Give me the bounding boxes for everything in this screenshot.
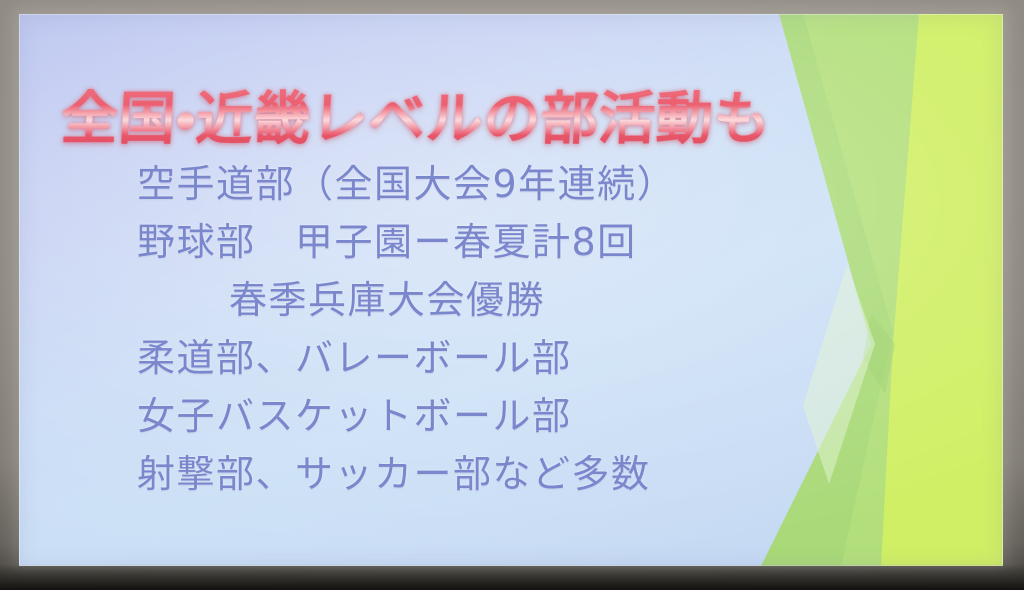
green-polygons-svg (743, 14, 1003, 566)
wall-bottom-shadow (0, 564, 1024, 590)
page-title: 全国・近畿レベルの部活動も (59, 88, 772, 152)
list-item: 空手道部（全国大会9年連続） (137, 155, 777, 213)
list-item: 柔道部、バレーボール部 (137, 329, 777, 387)
list-item: 女子バスケットボール部 (137, 387, 777, 445)
list-item: 射撃部、サッカー部など多数 (137, 445, 777, 503)
projection-wall: 全国・近畿レベルの部活動も 空手道部（全国大会9年連続） 野球部 甲子園ー春夏計… (0, 0, 1024, 590)
list-item: 春季兵庫大会優勝 (137, 271, 777, 329)
club-list: 空手道部（全国大会9年連続） 野球部 甲子園ー春夏計8回 春季兵庫大会優勝 柔道… (137, 155, 777, 503)
presentation-slide: 全国・近畿レベルの部活動も 空手道部（全国大会9年連続） 野球部 甲子園ー春夏計… (19, 14, 1003, 566)
green-polygon-decoration (743, 14, 1003, 566)
list-item: 野球部 甲子園ー春夏計8回 (137, 213, 777, 271)
